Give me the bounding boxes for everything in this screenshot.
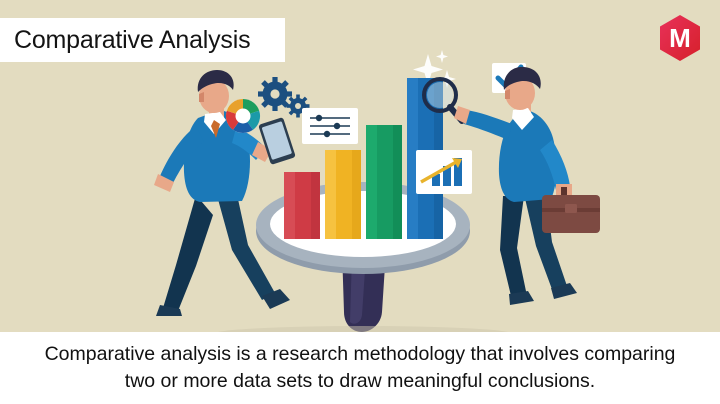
bar-red <box>284 172 320 239</box>
bar-green <box>366 125 402 239</box>
caption-line-2: two or more data sets to draw meaningful… <box>125 368 595 395</box>
settings-card <box>302 108 358 144</box>
logo-letter: M <box>669 23 691 53</box>
slider-knob-2 <box>334 123 340 129</box>
brand-logo[interactable]: M <box>658 14 702 62</box>
donut-chart <box>226 99 260 133</box>
title-banner: Comparative Analysis <box>0 18 285 62</box>
caption-line-1: Comparative analysis is a research metho… <box>45 341 676 368</box>
image-canvas: Comparative Analysis M Comparative analy… <box>0 0 720 404</box>
slider-knob-1 <box>316 115 322 121</box>
slider-knob-3 <box>324 131 330 137</box>
page-title: Comparative Analysis <box>0 26 250 55</box>
caption-band: Comparative analysis is a research metho… <box>0 332 720 404</box>
growth-chart-card <box>416 150 472 194</box>
bar-yellow <box>325 150 361 239</box>
